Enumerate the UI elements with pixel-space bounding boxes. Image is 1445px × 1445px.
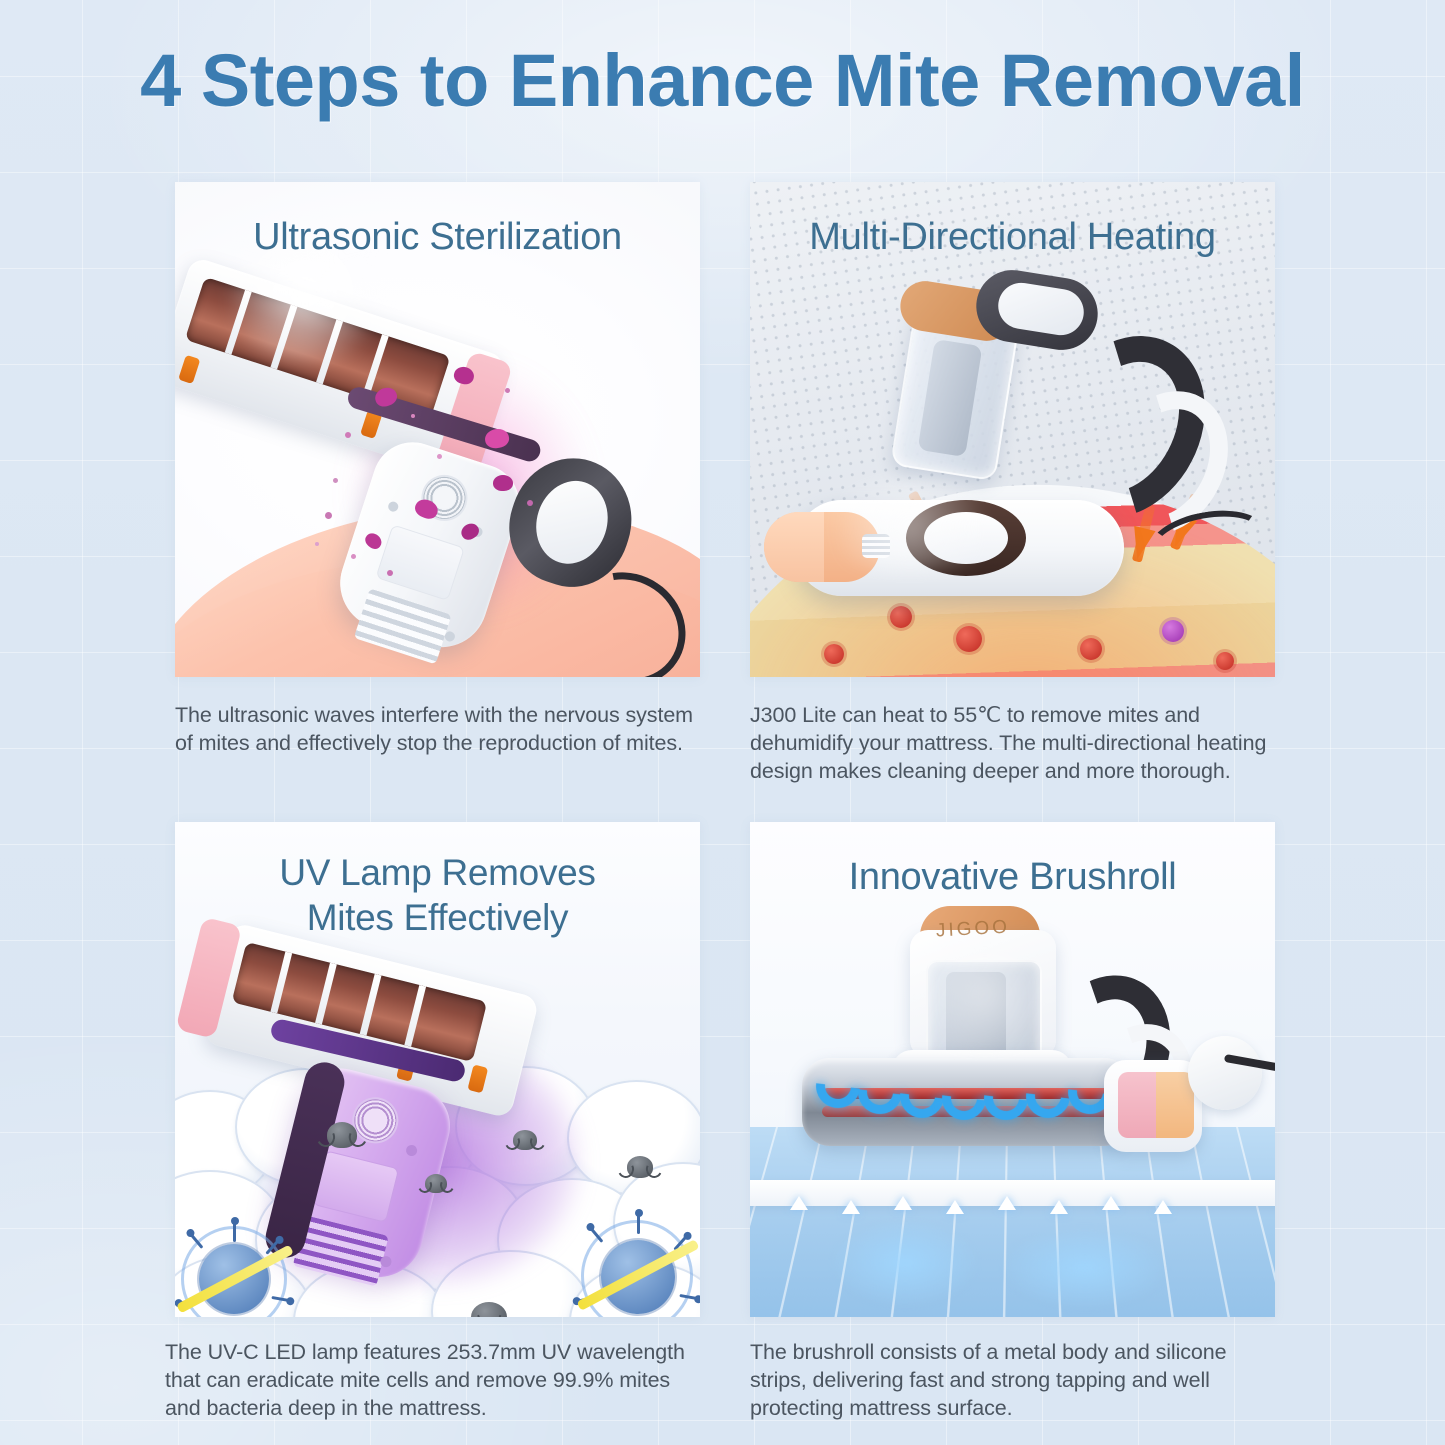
card-caption-brushroll: The brushroll consists of a metal body a… bbox=[750, 1339, 1270, 1423]
brushroll-image-panel: JIGOO bbox=[750, 822, 1275, 1317]
feature-card-ultrasonic-sterilization: Ultrasonic Sterilization The ultrasonic … bbox=[175, 182, 700, 758]
brand-label: JIGOO bbox=[935, 916, 1032, 947]
card-title-heating: Multi-Directional Heating bbox=[750, 214, 1275, 260]
card-caption-uv-lamp: The UV-C LED lamp features 253.7mm UV wa… bbox=[165, 1339, 685, 1423]
ultrasonic-image-panel: Ultrasonic Sterilization bbox=[175, 182, 700, 677]
card-caption-ultrasonic: The ultrasonic waves interfere with the … bbox=[175, 702, 695, 758]
card-title-uv-lamp-line1: UV Lamp Removes bbox=[175, 850, 700, 895]
card-title-uv-lamp-line2: Mites Effectively bbox=[175, 895, 700, 940]
card-title-ultrasonic: Ultrasonic Sterilization bbox=[175, 214, 700, 260]
feature-card-multi-directional-heating: Multi-Directional Heating J300 Lite can … bbox=[750, 182, 1275, 786]
infographic-page: 4 Steps to Enhance Mite Removal bbox=[0, 0, 1445, 1445]
feature-card-uv-lamp: UV Lamp Removes Mites Effectively The UV… bbox=[175, 822, 700, 1423]
card-title-uv-lamp: UV Lamp Removes Mites Effectively bbox=[175, 850, 700, 940]
uv-lamp-image-panel: UV Lamp Removes Mites Effectively bbox=[175, 822, 700, 1317]
feature-card-innovative-brushroll: JIGOO bbox=[750, 822, 1275, 1423]
card-title-brushroll: Innovative Brushroll bbox=[750, 854, 1275, 900]
heating-image-panel: Multi-Directional Heating bbox=[750, 182, 1275, 677]
page-title: 4 Steps to Enhance Mite Removal bbox=[0, 42, 1445, 120]
card-caption-heating: J300 Lite can heat to 55℃ to remove mite… bbox=[750, 702, 1270, 786]
